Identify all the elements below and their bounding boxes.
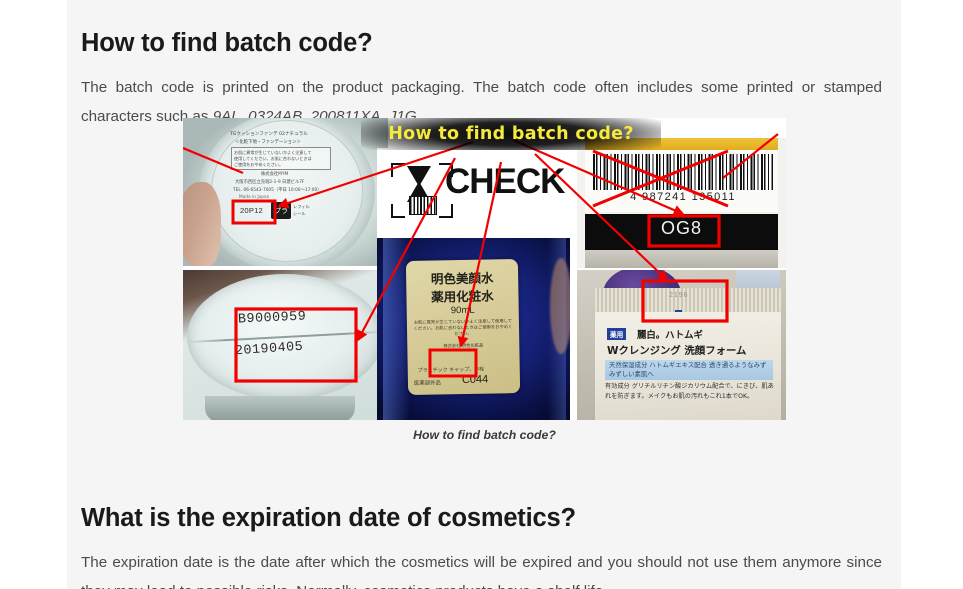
cushion-jp-title: TGクッションファンデ 02ナチュラル [230,131,308,137]
scanner-bracket-bottom-right-icon [439,204,453,218]
barcode-icon [409,196,437,215]
lotion-jp-category: 医薬部外品 [414,378,441,386]
photo-blue-lotion-bottle: 明色美顔水 薬用化粧水 90mL お肌に異常が生じていないかよく注意して使用して… [377,238,570,420]
cushion-warning-box: お肌に異常が生じていないかよく注意して 使用してください。お肌に合わないときは … [231,147,331,170]
cushion-company: 株式会社MYM [261,171,288,177]
tube-claim-bar: 天然保湿成分 ハトムギエキス配合 透き通るようなみずみずしい素肌へ [605,360,773,380]
bottle-batch-code: B9000959 [238,310,307,328]
brand-logo-text: CHECK EXP [445,162,570,202]
package-batch-code: OG8 [577,218,786,239]
photo-cleansing-foam-tube: 2196 薬用 麗白。ハトムギ Wクレンジング 洗顔フォーム 天然保湿成分 ハト… [577,270,786,420]
cushion-refill-label-1: レフィル [293,204,310,210]
hand-finger [550,258,570,354]
content-column: How to find batch code? The batch code i… [67,0,901,589]
scanner-bracket-top-left-icon [391,163,405,177]
expiration-section-title: What is the expiration date of cosmetics… [81,503,576,534]
cushion-made-in: Made in Japan [239,195,269,200]
tube-front-face: 薬用 麗白。ハトムギ Wクレンジング 洗顔フォーム 天然保湿成分 ハトムギエキス… [595,312,781,420]
bottle-label: 明色美顔水 薬用化粧水 90mL お肌に異常が生じていないかよく注意して使用して… [406,259,520,395]
lotion-jp-material: プラスチック キャップ、中栓 [418,366,484,374]
photo-bottle-underside: B9000959 20190405 [183,270,388,420]
expiration-paragraph: The expiration date is the date after wh… [81,548,882,589]
lotion-jp-warning: お肌に異常が生じていないかよく注意して使用してください。お肌に合わないときはご使… [413,319,513,339]
cushion-jp-subtitle: ＜化粧下地・ファンデーション＞ [235,139,301,145]
tube-jp-brand: 麗白。ハトムギ [637,327,703,341]
cushion-refill-label-2: シール [293,211,306,217]
cushion-address: 大阪市西区立売堀2-1-9 日建ビル7F [235,179,304,185]
lotion-volume: 90mL [451,305,475,316]
tube-jp-badge: 薬用 [607,328,626,340]
lotion-jp-company: 株式会社 明色化粧品 [413,343,513,351]
cushion-batch-code: 20P12 [240,206,263,215]
cushion-warning-line-3: ご使用をおやめください。 [234,162,283,168]
photo-barcode-package: 4 987241 135011 OG8 [577,138,786,268]
scanner-bracket-bottom-left-icon [391,204,405,218]
photo-cushion-compact-underside: TGクッションファンデ 02ナチュラル ＜化粧下地・ファンデーション＞ お肌に異… [183,118,388,266]
package-base-strip [585,250,778,268]
batch-code-figure: TGクッションファンデ 02ナチュラル ＜化粧下地・ファンデーション＞ お肌に異… [183,118,786,458]
page-title: How to find batch code? [81,28,372,59]
lotion-jp-title-line-2: 薬用化粧水 [431,285,494,305]
overlay-title-band: How to find batch code? [361,118,661,150]
tube-jp-product: Wクレンジング 洗顔フォーム [607,342,746,357]
lotion-jp-title-line-1: 明色美顔水 [431,267,494,287]
tube-jp-fineprint: 有効成分 グリチルリチン酸ジカリウム配合で、にきび、肌あれを防ぎます。メイクもお… [605,382,777,401]
tube-jp-claim: 天然保湿成分 ハトムギエキス配合 透き通るようなみずみずしい素肌へ [609,361,769,379]
bottle-body-shadow [205,396,355,420]
plastic-recycle-icon: プラ [271,202,291,219]
tube-crimp-code: 2196 [669,292,689,299]
figure-caption: How to find batch code? [183,428,786,442]
article-page: How to find batch code? The batch code i… [0,0,963,589]
batch-code-collage-image: TGクッションファンデ 02ナチュラル ＜化粧下地・ファンデーション＞ お肌に異… [183,118,786,420]
brand-logo-panel: CHECK EXP [377,148,570,238]
hand-thumb [183,182,221,266]
cushion-tel: TEL. 06-6543-7005（平日 10:00〜17:00） [233,187,322,193]
barcode-digits: 4 987241 135011 [591,191,775,203]
barcode-bars [593,154,773,190]
overlay-title-text: How to find batch code? [388,124,634,144]
glass-highlight-left [383,238,409,420]
lotion-batch-code: C044 [462,374,489,386]
